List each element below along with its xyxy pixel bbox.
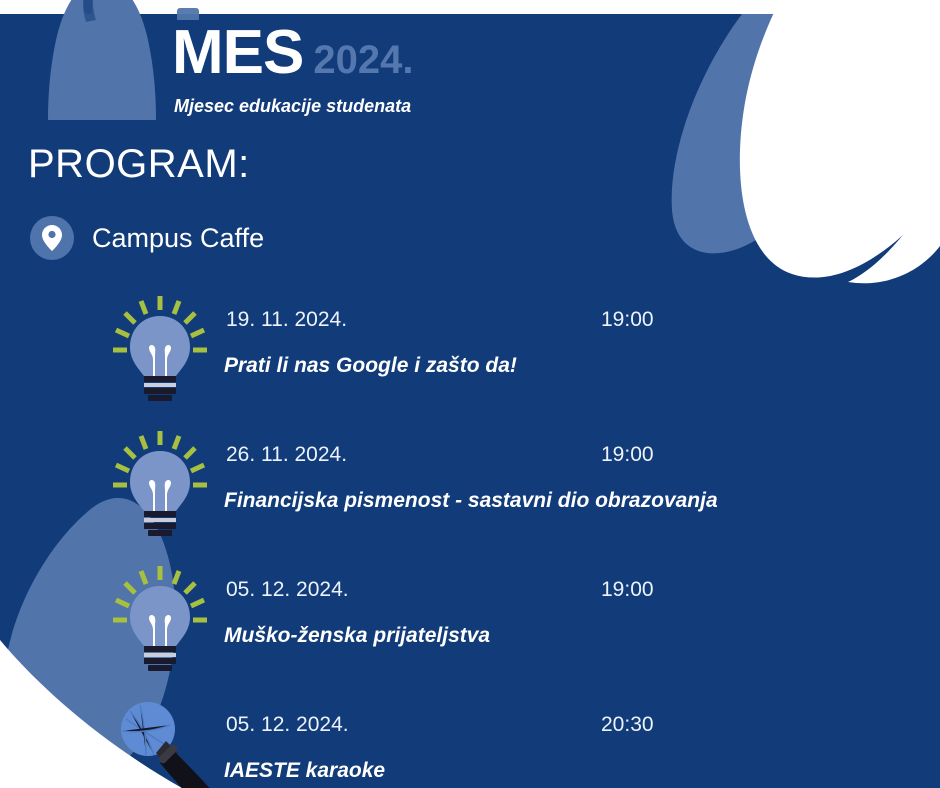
logo-wordmark: MES 2024.	[172, 22, 413, 84]
logo-mes-text: MES	[172, 22, 303, 84]
lightbulb-icon	[108, 292, 212, 404]
poster-canvas: MES 2024. Mjesec edukacije studenata PRO…	[0, 0, 940, 788]
event-time: 19:00	[601, 308, 654, 332]
list-item: 05. 12. 2024. 20:30 IAESTE karaoke	[0, 697, 940, 788]
graduation-cap-icon	[22, 0, 182, 124]
event-time: 19:00	[601, 578, 654, 602]
event-date: 05. 12. 2024.	[226, 713, 349, 737]
lightbulb-icon	[108, 427, 212, 539]
list-item: 19. 11. 2024. 19:00 Prati li nas Google …	[0, 292, 940, 427]
event-time: 19:00	[601, 443, 654, 467]
event-title: Prati li nas Google i zašto da!	[224, 354, 517, 378]
event-title: Muško-ženska prijateljstva	[224, 624, 490, 648]
logo-tagline: Mjesec edukacije studenata	[174, 96, 411, 117]
event-title: Financijska pismenost - sastavni dio obr…	[224, 489, 718, 513]
list-item: 26. 11. 2024. 19:00 Financijska pismenos…	[0, 427, 940, 562]
venue-row: Campus Caffe	[30, 216, 264, 260]
microphone-icon	[108, 697, 212, 788]
location-pin-icon	[30, 216, 74, 260]
event-list: 19. 11. 2024. 19:00 Prati li nas Google …	[0, 292, 940, 788]
event-date: 26. 11. 2024.	[226, 443, 347, 467]
list-item: 05. 12. 2024. 19:00 Muško-ženska prijate…	[0, 562, 940, 697]
event-date: 05. 12. 2024.	[226, 578, 349, 602]
event-title: IAESTE karaoke	[224, 759, 385, 783]
logo-year-text: 2024.	[313, 40, 413, 80]
lightbulb-icon	[108, 562, 212, 674]
venue-name: Campus Caffe	[92, 223, 264, 254]
event-time: 20:30	[601, 713, 654, 737]
event-date: 19. 11. 2024.	[226, 308, 347, 332]
page-title: PROGRAM:	[28, 142, 250, 187]
logo-block: MES 2024. Mjesec edukacije studenata	[0, 0, 470, 126]
